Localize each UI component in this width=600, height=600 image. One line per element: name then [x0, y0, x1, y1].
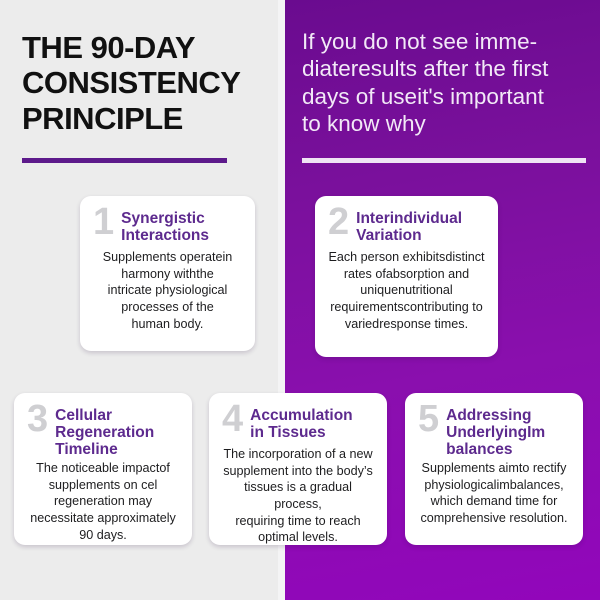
page-subtitle: If you do not see imme- diateresults aft…: [302, 28, 586, 138]
info-card-4: 4 Accumulation in Tissues The incorporat…: [209, 393, 387, 545]
card-body-text: The noticeable impactof supplements on c…: [27, 460, 179, 543]
info-card-2: 2 Interindividual Variation Each person …: [315, 196, 498, 357]
info-card-5: 5 Addressing UnderlyingIm balances Suppl…: [405, 393, 583, 545]
card-title: Interindividual Variation: [356, 208, 462, 244]
header-left: THE 90-DAY CONSISTENCY PRINCIPLE: [22, 30, 267, 136]
info-card-1: 1 Synergistic Interactions Supplements o…: [80, 196, 255, 351]
card-number: 4: [222, 403, 243, 436]
card-title: Cellular Regeneration Timeline: [55, 405, 154, 458]
card-header: 2 Interindividual Variation: [328, 208, 485, 244]
title-underline-right: [302, 158, 586, 163]
title-underline-left: [22, 158, 227, 163]
card-body-text: The incorporation of a new supplement in…: [222, 446, 374, 545]
card-body-text: Supplements aimto rectify physiologicali…: [418, 460, 570, 526]
card-title: Synergistic Interactions: [121, 208, 209, 244]
card-number: 3: [27, 403, 48, 436]
infographic-canvas: THE 90-DAY CONSISTENCY PRINCIPLE If you …: [0, 0, 600, 600]
card-body-text: Supplements operatein harmony withthe in…: [93, 249, 242, 332]
card-title: Accumulation in Tissues: [250, 405, 352, 441]
page-title: THE 90-DAY CONSISTENCY PRINCIPLE: [22, 30, 267, 136]
card-number: 5: [418, 403, 439, 436]
card-header: 5 Addressing UnderlyingIm balances: [418, 405, 570, 458]
card-header: 4 Accumulation in Tissues: [222, 405, 374, 441]
card-header: 3 Cellular Regeneration Timeline: [27, 405, 179, 458]
card-number: 2: [328, 206, 349, 239]
card-number: 1: [93, 206, 114, 239]
card-body-text: Each person exhibitsdistinct rates ofabs…: [328, 249, 485, 332]
card-header: 1 Synergistic Interactions: [93, 208, 242, 244]
header-right: If you do not see imme- diateresults aft…: [302, 28, 586, 138]
info-card-3: 3 Cellular Regeneration Timeline The not…: [14, 393, 192, 545]
card-title: Addressing UnderlyingIm balances: [446, 405, 545, 458]
